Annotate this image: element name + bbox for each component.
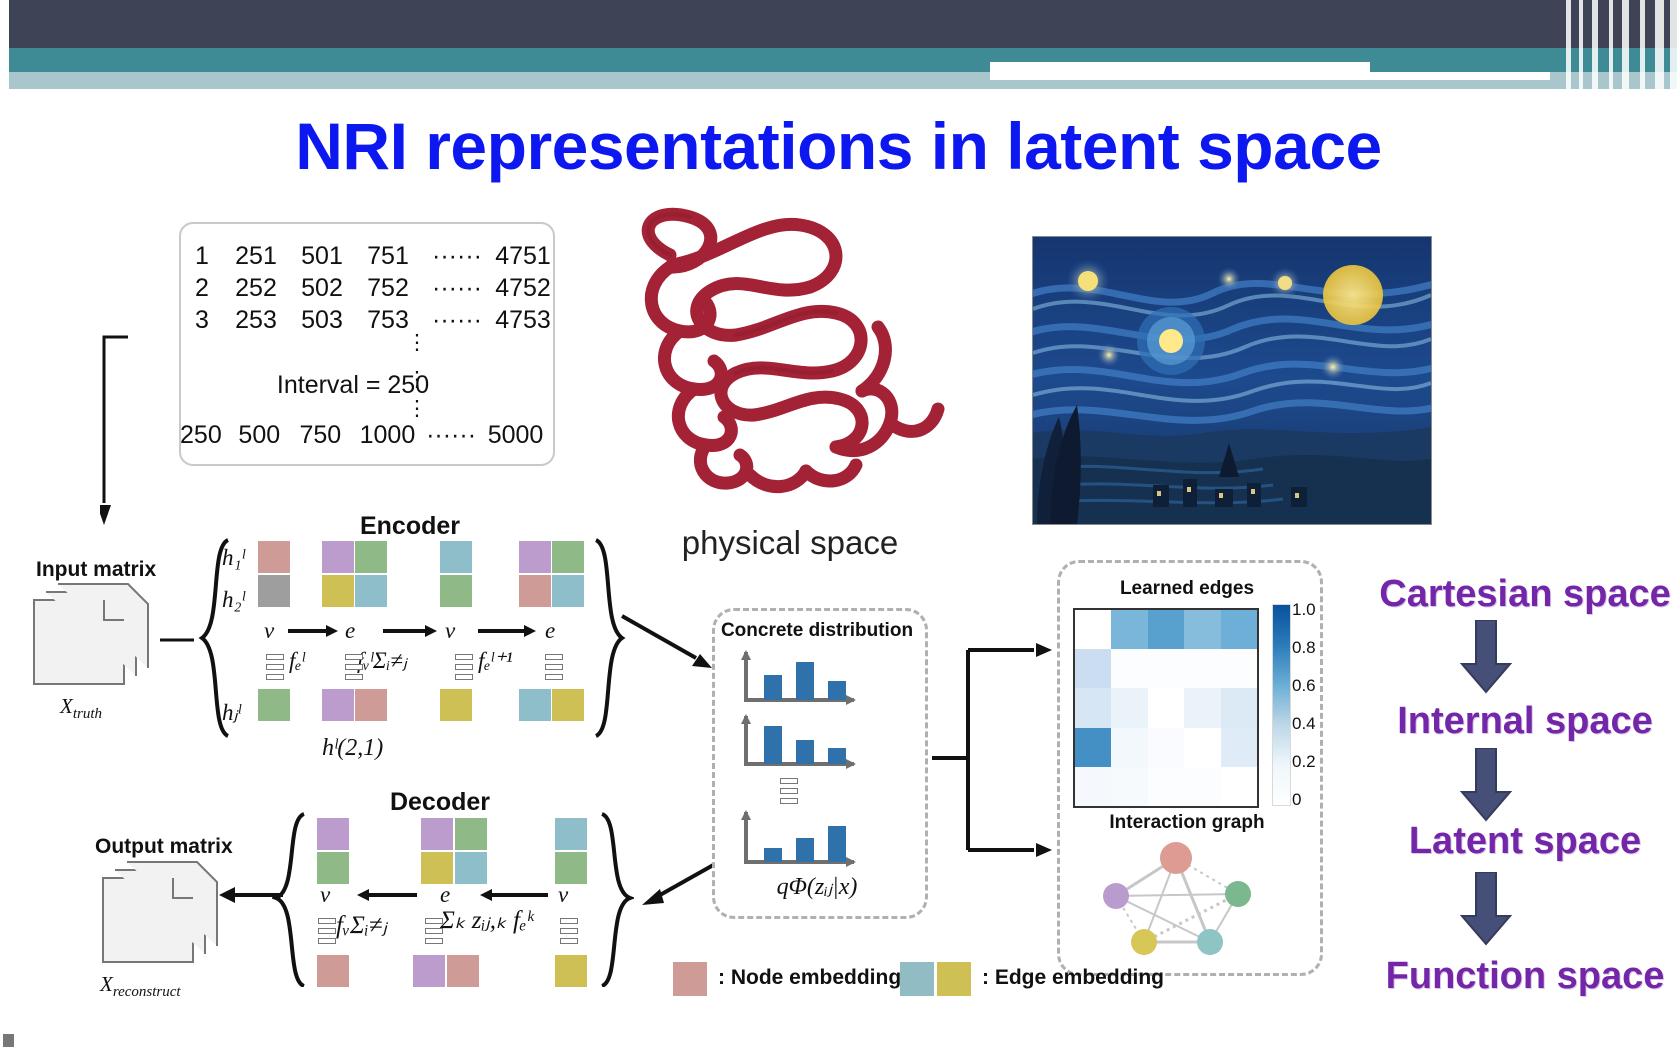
decoder-arrow-1 <box>355 886 417 904</box>
legend-node-text: : Node embedding <box>718 966 901 990</box>
graph-node <box>1225 881 1251 907</box>
heatmap-cell <box>1075 649 1111 688</box>
physical-space-label: physical space <box>600 524 980 562</box>
heatmap-cell <box>1184 649 1220 688</box>
encoder-dots <box>545 654 561 684</box>
output-matrix-stack-icon <box>95 858 235 968</box>
decoder-dots <box>318 918 334 948</box>
decoder-function-sum: Σₖ zᵢⱼ,ₖ fₑᵏ <box>440 905 533 935</box>
input-x-sub: truth <box>73 706 102 722</box>
decoder-function-fv: fᵥΣᵢ≠ⱼ <box>336 910 387 940</box>
decoder-node-square <box>317 955 349 987</box>
matrix-row: 2 252 502 752 ······ 4752 <box>181 274 553 303</box>
decoder-edge-square <box>413 955 445 987</box>
encoder-node-square <box>440 575 472 607</box>
colorbar-tick: 1.0 <box>1292 600 1316 620</box>
encoder-title: Encoder <box>300 512 520 541</box>
matrix-cell: 500 <box>229 421 290 450</box>
decoder-node-square <box>317 852 349 884</box>
matrix-cell: 252 <box>223 274 289 303</box>
concrete-distribution-title: Concrete distribution <box>712 620 922 642</box>
encoder-node-square <box>440 689 472 721</box>
concrete-dots <box>780 778 796 808</box>
encoder-node-square <box>440 541 472 573</box>
hierarchy-cartesian-space: Cartesian space <box>1330 573 1677 616</box>
colorbar-tick: 0.8 <box>1292 638 1316 658</box>
decoder-title: Decoder <box>330 788 550 817</box>
header-bottom-rule <box>0 89 1677 95</box>
encoder-function-fv: fᵥˡΣᵢ≠ⱼ <box>357 648 407 674</box>
concrete-chart-2 <box>738 712 858 772</box>
encoder-edge-square <box>519 575 551 607</box>
encoder-edge-square <box>322 689 354 721</box>
encoder-flow-e2: e <box>545 618 555 644</box>
matrix-cell: 503 <box>289 306 355 335</box>
decoder-edge-square <box>447 955 479 987</box>
legend-edge-swatch-2 <box>937 962 971 996</box>
encoder-edge-square <box>322 541 354 573</box>
graph-node <box>1131 929 1157 955</box>
decoder-dots <box>560 918 576 948</box>
concrete-formula: qΦ(zᵢⱼ|x) <box>712 872 922 901</box>
encoder-node-square <box>258 541 290 573</box>
learned-edges-heatmap <box>1073 608 1259 808</box>
heatmap-cell <box>1075 610 1111 649</box>
hierarchy-arrow-3 <box>1460 872 1512 946</box>
learned-edges-title: Learned edges <box>1057 578 1317 600</box>
matrix-ellipsis: ······ <box>421 242 493 271</box>
matrix-cell: 4751 <box>493 242 553 271</box>
decoder-node-square <box>317 818 349 850</box>
interaction-graph-title: Interaction graph <box>1057 812 1317 834</box>
encoder-edge-square <box>552 541 584 573</box>
encoder-arrow-1 <box>288 622 340 640</box>
matrix-ellipsis: ······ <box>421 306 493 335</box>
matrix-cell: 750 <box>290 421 351 450</box>
decoder-edge-square <box>421 852 453 884</box>
slide-canvas: NRI representations in latent space 1 25… <box>0 0 1677 1051</box>
matrix-cell: 4752 <box>493 274 553 303</box>
encoder-flow-e1: e <box>345 618 355 644</box>
heatmap-cell <box>1148 610 1184 649</box>
heatmap-colorbar <box>1272 604 1291 806</box>
graph-edge <box>1116 896 1210 942</box>
legend-edge-swatch-1 <box>900 962 934 996</box>
graph-node <box>1160 842 1192 874</box>
encoder-row-label-h1: h₁ˡ <box>222 545 245 571</box>
heatmap-cell <box>1148 767 1184 806</box>
decoder-edge-square <box>455 818 487 850</box>
heatmap-cell <box>1221 767 1257 806</box>
encoder-edge-square <box>519 541 551 573</box>
decoder-arrow-2 <box>478 886 548 904</box>
heatmap-cell <box>1111 728 1147 767</box>
encoder-edge-square <box>552 575 584 607</box>
heatmap-cell <box>1075 767 1111 806</box>
matrix-last-row: 250 500 750 1000 ······ 5000 <box>173 421 553 450</box>
encoder-flow-v1: v <box>264 618 274 644</box>
footer-mark-icon <box>3 1034 14 1047</box>
encoder-dots <box>266 654 282 684</box>
matrix-cell: 5000 <box>478 421 553 450</box>
page-title: NRI representations in latent space <box>0 108 1677 184</box>
header-notch-upper <box>990 62 1370 74</box>
input-matrix-stack-icon <box>26 580 166 690</box>
matrix-cell: 752 <box>355 274 421 303</box>
heatmap-cell <box>1075 728 1111 767</box>
heatmap-cell <box>1111 767 1147 806</box>
graph-node <box>1103 883 1129 909</box>
decoder-dots <box>425 918 441 948</box>
decoder-to-output-arrow <box>215 880 285 910</box>
input-x-truth-label: Xtruth <box>60 694 102 723</box>
matrix-cell: 4753 <box>493 306 553 335</box>
starry-night-painting <box>1032 236 1432 525</box>
colorbar-tick: 0.2 <box>1292 752 1316 772</box>
header-stripes <box>1562 0 1677 96</box>
encoder-edge-square <box>355 541 387 573</box>
encoder-flow-v2: v <box>445 618 455 644</box>
heatmap-cell <box>1221 610 1257 649</box>
heatmap-cell <box>1075 688 1111 727</box>
decoder-edge-square <box>421 818 453 850</box>
input-to-encoder-connector <box>158 600 208 680</box>
hierarchy-arrow-2 <box>1460 748 1512 822</box>
matrix-cell: 751 <box>355 242 421 271</box>
matrix-cell: 501 <box>289 242 355 271</box>
matrix-cell: 253 <box>223 306 289 335</box>
input-matrix-box: 1 251 501 751 ······ 4751 2 252 502 752 … <box>179 222 555 466</box>
legend-edge-text: : Edge embedding <box>982 966 1164 990</box>
heatmap-cell <box>1148 728 1184 767</box>
matrix-ellipsis: ······ <box>424 421 478 450</box>
heatmap-cell <box>1184 688 1220 727</box>
encoder-node-square <box>258 689 290 721</box>
heatmap-cell <box>1111 688 1147 727</box>
legend-node-swatch <box>673 962 707 996</box>
matrix-cell: 2 <box>181 274 223 303</box>
protein-ribbon-illustration <box>610 195 970 505</box>
input-matrix-label: Input matrix <box>36 558 156 582</box>
interaction-graph <box>1098 838 1258 960</box>
matrix-cell: 1 <box>181 242 223 271</box>
output-x-reconstruct-label: Xreconstruct <box>100 972 181 1001</box>
colorbar-tick: 0 <box>1292 790 1301 810</box>
heatmap-cell <box>1221 688 1257 727</box>
heatmap-cell <box>1148 688 1184 727</box>
heatmap-cell <box>1111 649 1147 688</box>
encoder-row-label-hj: hⱼˡ <box>222 700 241 726</box>
matrix-ellipsis: ······ <box>421 274 493 303</box>
decoder-flow-v1: v <box>320 882 330 908</box>
interval-label: Interval = 250 <box>193 371 513 400</box>
graph-edge <box>1116 894 1238 896</box>
colorbar-tick: 0.6 <box>1292 676 1316 696</box>
hierarchy-arrow-1 <box>1460 620 1512 694</box>
decoder-node-square <box>555 955 587 987</box>
encoder-edge-square <box>355 575 387 607</box>
encoder-dots <box>455 654 471 684</box>
heatmap-cell <box>1184 728 1220 767</box>
encoder-edge-square <box>519 689 551 721</box>
hierarchy-function-space: Function space <box>1330 955 1677 998</box>
encoder-function-fe: fₑˡ <box>289 648 305 674</box>
matrix-row: 1 251 501 751 ······ 4751 <box>181 242 553 271</box>
heatmap-cell <box>1221 649 1257 688</box>
header-teal-band <box>0 48 1677 72</box>
decoder-node-square <box>555 818 587 850</box>
decoder-flow-v2: v <box>558 882 568 908</box>
output-x-sub: reconstruct <box>113 984 181 1000</box>
heatmap-cell <box>1148 649 1184 688</box>
heatmap-cell <box>1184 610 1220 649</box>
output-matrix-label: Output matrix <box>95 835 233 859</box>
encoder-node-square <box>258 575 290 607</box>
colorbar-tick: 0.4 <box>1292 714 1316 734</box>
matrix-cell: 3 <box>181 306 223 335</box>
matrix-cell: 251 <box>223 242 289 271</box>
encoder-arrow-2 <box>383 622 439 640</box>
input-flow-arrow <box>100 333 190 528</box>
graph-node <box>1197 929 1223 955</box>
encoder-row-label-h2: h₂ˡ <box>222 587 245 613</box>
encoder-function-fe1: fₑˡ⁺¹ <box>478 648 513 674</box>
matrix-vdots: ⋮ <box>405 330 429 355</box>
concrete-chart-3 <box>738 808 858 870</box>
heatmap-cell <box>1111 610 1147 649</box>
encoder-edge-embedding-label: hˡ(2,1) <box>322 735 383 762</box>
encoder-edge-square <box>552 689 584 721</box>
matrix-cell: 502 <box>289 274 355 303</box>
encoder-arrow-3 <box>478 622 538 640</box>
matrix-row: 3 253 503 753 ······ 4753 <box>181 306 553 335</box>
encoder-edge-square <box>355 689 387 721</box>
heatmap-cell <box>1221 728 1257 767</box>
matrix-cell: 1000 <box>351 421 424 450</box>
concrete-to-edges-branch <box>930 640 1060 870</box>
hierarchy-latent-space: Latent space <box>1330 820 1677 863</box>
encoder-dots <box>345 654 361 684</box>
concrete-chart-1 <box>738 648 858 708</box>
heatmap-cell <box>1184 767 1220 806</box>
encoder-edge-square <box>322 575 354 607</box>
decoder-edge-square <box>455 852 487 884</box>
decoder-node-square <box>555 852 587 884</box>
hierarchy-internal-space: Internal space <box>1330 700 1677 743</box>
header-dark-band <box>0 0 1677 48</box>
